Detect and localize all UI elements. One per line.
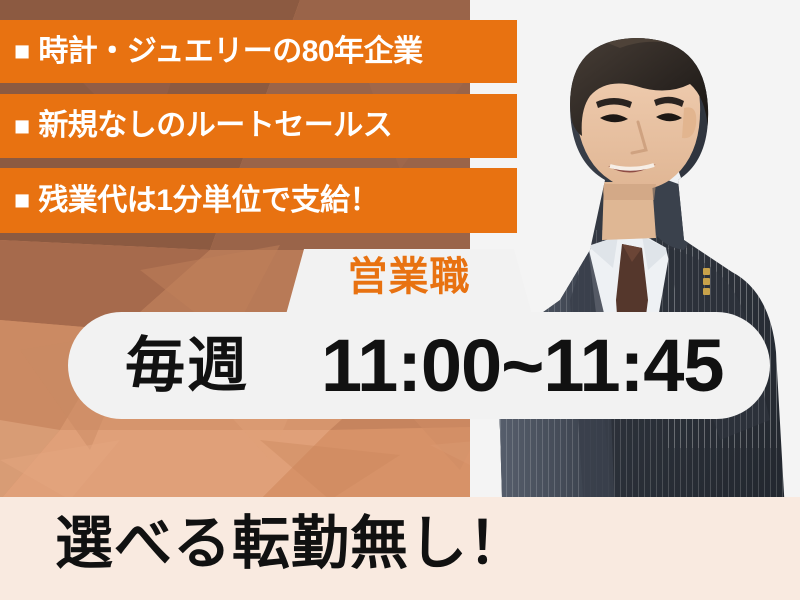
bullet-bar-2: ■ 新規なしのルートセールス xyxy=(0,94,517,158)
bullet-bar-3: ■ 残業代は1分単位で支給！ xyxy=(0,168,517,233)
bullet-square-icon: ■ xyxy=(14,113,30,140)
bullet-text-2: 新規なしのルートセールス xyxy=(38,111,392,141)
frequency-label: 毎週 xyxy=(125,336,249,396)
schedule-pill: 毎週 11:00~11:45 xyxy=(68,312,770,419)
bullet-text-3: 残業代は1分単位で支給！ xyxy=(38,186,379,216)
time-range-label: 11:00~11:45 xyxy=(321,329,724,403)
bullet-bar-1: ■ 時計・ジュエリーの80年企業 xyxy=(0,20,517,83)
bullet-text-1: 時計・ジュエリーの80年企業 xyxy=(38,37,422,67)
job-ad-banner: ■ 時計・ジュエリーの80年企業 ■ 新規なしのルートセールス ■ 残業代は1分… xyxy=(0,0,800,600)
bottom-headline: 選べる転勤無し！ xyxy=(55,505,527,583)
job-type-label: 営業職 xyxy=(282,254,536,300)
bullet-square-icon: ■ xyxy=(14,187,30,214)
bullet-square-icon: ■ xyxy=(14,38,30,65)
